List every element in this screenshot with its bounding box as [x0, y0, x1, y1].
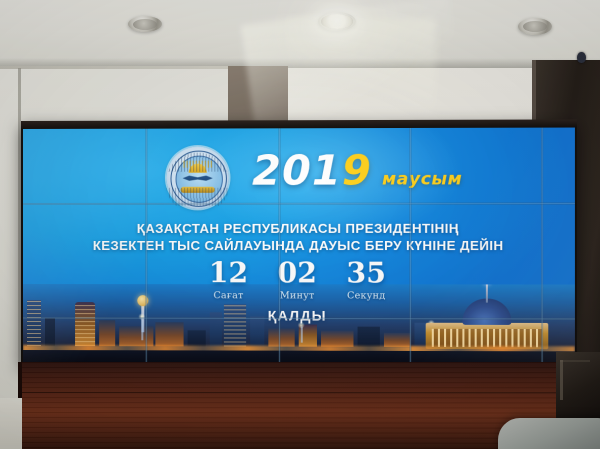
headline: ҚАЗАҚСТАН РЕСПУБЛИКАСЫ ПРЕЗИДЕНТІНІҢ КЕЗ…: [23, 221, 575, 254]
equipment-cables: [560, 360, 590, 400]
downlight-left-icon: [128, 16, 162, 32]
year-display: 2019 маусым: [252, 150, 462, 192]
countdown-unit-seconds: 35 Секунд: [343, 259, 390, 301]
baseboard: [0, 398, 22, 449]
year-prefix: 201: [252, 146, 342, 194]
year-number: 2019: [252, 150, 372, 191]
video-wall-screen[interactable]: 2019 маусым ҚАЗАҚСТАН РЕСПУБЛИКАСЫ ПРЕЗИ…: [23, 128, 575, 364]
panel-seam-vertical-1: [145, 129, 147, 363]
ceiling-sensor-icon: [577, 52, 586, 63]
headline-line-2: КЕЗЕКТЕН ТЫС САЙЛАУЫНДА ДАУЫС БЕРУ КҮНІН…: [23, 237, 575, 254]
countdown-unit-hours: 12 Сағат: [205, 259, 251, 301]
countdown-unit-minutes: 02 Минут: [274, 259, 321, 301]
countdown-minutes-label: Минут: [274, 290, 321, 301]
year-highlight-digit: 9: [342, 146, 372, 194]
countdown-timer: 12 Сағат 02 Минут 35 Секунд ҚАЛДЫ: [23, 259, 575, 324]
countdown-hours-label: Сағат: [205, 290, 251, 301]
wood-panel-wall: [18, 362, 580, 449]
video-wall[interactable]: 2019 маусым ҚАЗАҚСТАН РЕСПУБЛИКАСЫ ПРЕЗИ…: [21, 119, 577, 366]
month-label: маусым: [382, 169, 462, 189]
countdown-footer-label: ҚАЛДЫ: [23, 307, 575, 324]
photo-scene: 2019 маусым ҚАЗАҚСТАН РЕСПУБЛИКАСЫ ПРЕЗИ…: [0, 0, 600, 449]
panel-seam-vertical-3: [409, 128, 411, 363]
panel-seam-vertical-2: [278, 128, 280, 362]
countdown-hours-value: 12: [205, 259, 251, 287]
wall-trim: [0, 66, 228, 69]
downlight-right-icon: [518, 18, 552, 35]
panel-seam-vertical-4: [541, 128, 543, 364]
countdown-seconds-value: 35: [343, 259, 390, 287]
countdown-minutes-value: 02: [274, 259, 321, 287]
chair-headrest: [498, 418, 600, 449]
screen-content: 2019 маусым ҚАЗАҚСТАН РЕСПУБЛИКАСЫ ПРЕЗИ…: [23, 128, 575, 364]
countdown-seconds-label: Секунд: [343, 290, 390, 301]
headline-line-1: ҚАЗАҚСТАН РЕСПУБЛИКАСЫ ПРЕЗИДЕНТІНІҢ: [23, 221, 575, 238]
kazakhstan-election-commission-emblem-icon: [166, 147, 228, 209]
